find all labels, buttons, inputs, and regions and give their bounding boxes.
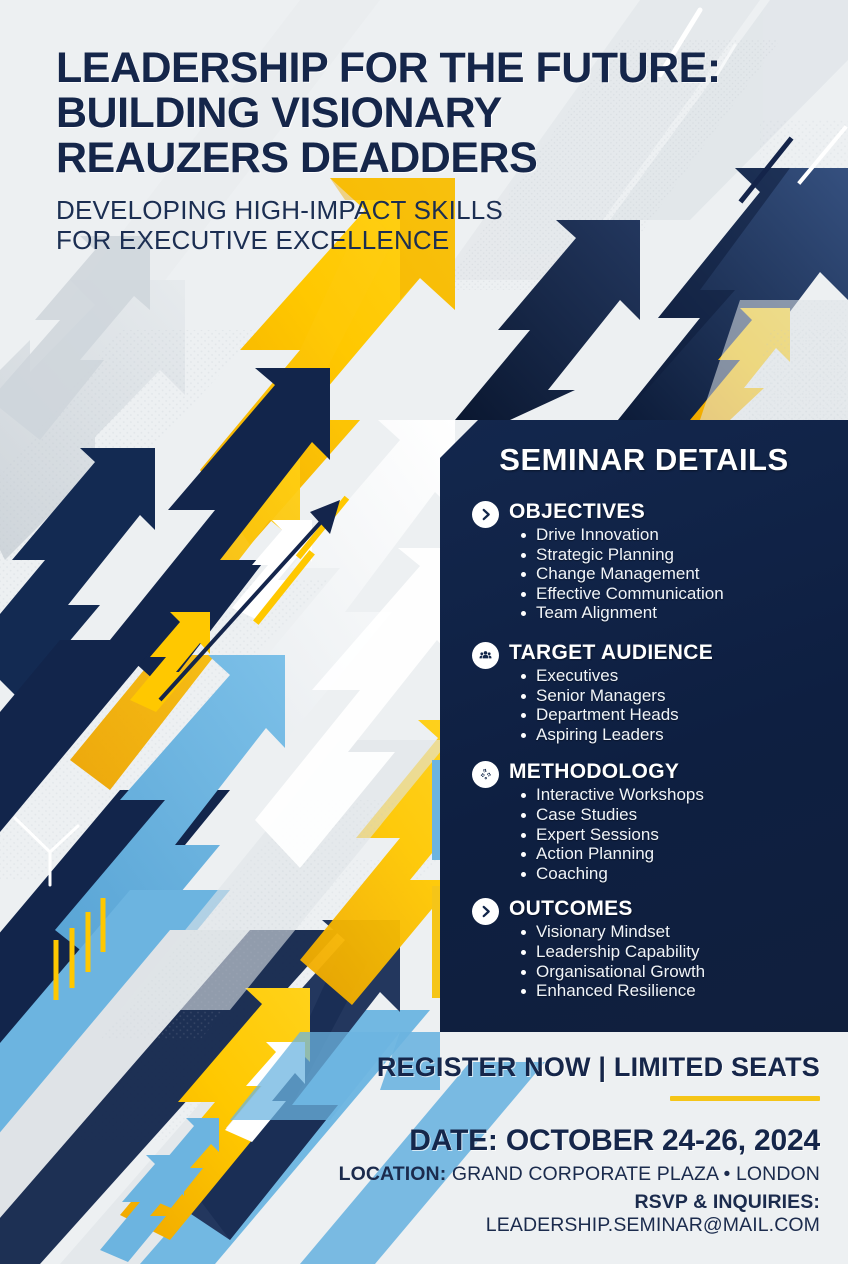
poster-header: LEADERSHIP FOR THE FUTURE: BUILDING VISI…: [56, 46, 816, 255]
panel-title: SEMINAR DETAILS: [440, 442, 848, 478]
subtitle-line-1: DEVELOPING HIGH-IMPACT SKILLS: [56, 195, 816, 225]
list-item: Department Heads: [521, 705, 830, 725]
page-title: LEADERSHIP FOR THE FUTURE: BUILDING VISI…: [56, 46, 816, 181]
section-body: METHODOLOGY Interactive Workshops Case S…: [509, 760, 830, 883]
people-group-icon: [472, 642, 499, 669]
list-item: Change Management: [521, 564, 830, 584]
list-item: Strategic Planning: [521, 545, 830, 565]
section-heading: METHODOLOGY: [509, 760, 830, 784]
chevron-right-circle-icon: [472, 898, 499, 925]
list-item: Expert Sessions: [521, 825, 830, 845]
section-list: Drive Innovation Strategic Planning Chan…: [509, 525, 830, 623]
poster-canvas: LEADERSHIP FOR THE FUTURE: BUILDING VISI…: [0, 0, 848, 1264]
list-item: Senior Managers: [521, 686, 830, 706]
section-list: Interactive Workshops Case Studies Exper…: [509, 785, 830, 883]
event-location: LOCATION: GRAND CORPORATE PLAZA • LONDON: [300, 1163, 820, 1186]
panel-sections: OBJECTIVES Drive Innovation Strategic Pl…: [440, 500, 848, 1001]
section-body: OUTCOMES Visionary Mindset Leadership Ca…: [509, 897, 830, 1000]
section-objectives: OBJECTIVES Drive Innovation Strategic Pl…: [472, 500, 830, 623]
section-outcomes: OUTCOMES Visionary Mindset Leadership Ca…: [472, 897, 830, 1000]
title-line-1: LEADERSHIP FOR THE FUTURE:: [56, 46, 816, 91]
rsvp-label: RSVP & INQUIRIES:: [634, 1191, 820, 1213]
list-item: Case Studies: [521, 805, 830, 825]
section-body: TARGET AUDIENCE Executives Senior Manage…: [509, 641, 830, 744]
gears-icon: [472, 761, 499, 788]
list-item: Coaching: [521, 864, 830, 884]
rsvp-value: LEADERSHIP.SEMINAR@MAIL.COM: [486, 1214, 820, 1236]
chevron-right-circle-icon: [472, 501, 499, 528]
list-item: Interactive Workshops: [521, 785, 830, 805]
section-target-audience: TARGET AUDIENCE Executives Senior Manage…: [472, 641, 830, 744]
event-date: DATE: OCTOBER 24-26, 2024: [300, 1124, 820, 1158]
event-rsvp: RSVP & INQUIRIES: LEADERSHIP.SEMINAR@MAI…: [300, 1191, 820, 1237]
section-heading: OBJECTIVES: [509, 500, 830, 524]
section-list: Visionary Mindset Leadership Capability …: [509, 922, 830, 1000]
location-value: GRAND CORPORATE PLAZA • LONDON: [452, 1163, 820, 1185]
section-heading: TARGET AUDIENCE: [509, 641, 830, 665]
list-item: Enhanced Resilience: [521, 981, 830, 1001]
page-subtitle: DEVELOPING HIGH-IMPACT SKILLS FOR EXECUT…: [56, 195, 816, 255]
section-list: Executives Senior Managers Department He…: [509, 666, 830, 744]
poster-footer: REGISTER NOW | LIMITED SEATS DATE: OCTOB…: [300, 1052, 820, 1237]
list-item: Visionary Mindset: [521, 922, 830, 942]
list-item: Aspiring Leaders: [521, 725, 830, 745]
list-item: Action Planning: [521, 844, 830, 864]
subtitle-line-2: FOR EXECUTIVE EXCELLENCE: [56, 225, 816, 255]
list-item: Drive Innovation: [521, 525, 830, 545]
title-line-2: BUILDING VISIONARY: [56, 91, 816, 136]
register-callout: REGISTER NOW | LIMITED SEATS: [300, 1052, 820, 1083]
section-heading: OUTCOMES: [509, 897, 830, 921]
list-item: Team Alignment: [521, 603, 830, 623]
title-line-3: REAUZERS DEADDERS: [56, 136, 816, 181]
list-item: Executives: [521, 666, 830, 686]
list-item: Leadership Capability: [521, 942, 830, 962]
seminar-details-panel: SEMINAR DETAILS OBJECTIVES Drive Innovat…: [440, 420, 848, 1032]
section-body: OBJECTIVES Drive Innovation Strategic Pl…: [509, 500, 830, 623]
list-item: Effective Communication: [521, 584, 830, 604]
list-item: Organisational Growth: [521, 962, 830, 982]
section-methodology: METHODOLOGY Interactive Workshops Case S…: [472, 760, 830, 883]
footer-divider: [670, 1096, 820, 1101]
location-label: LOCATION:: [339, 1163, 447, 1185]
